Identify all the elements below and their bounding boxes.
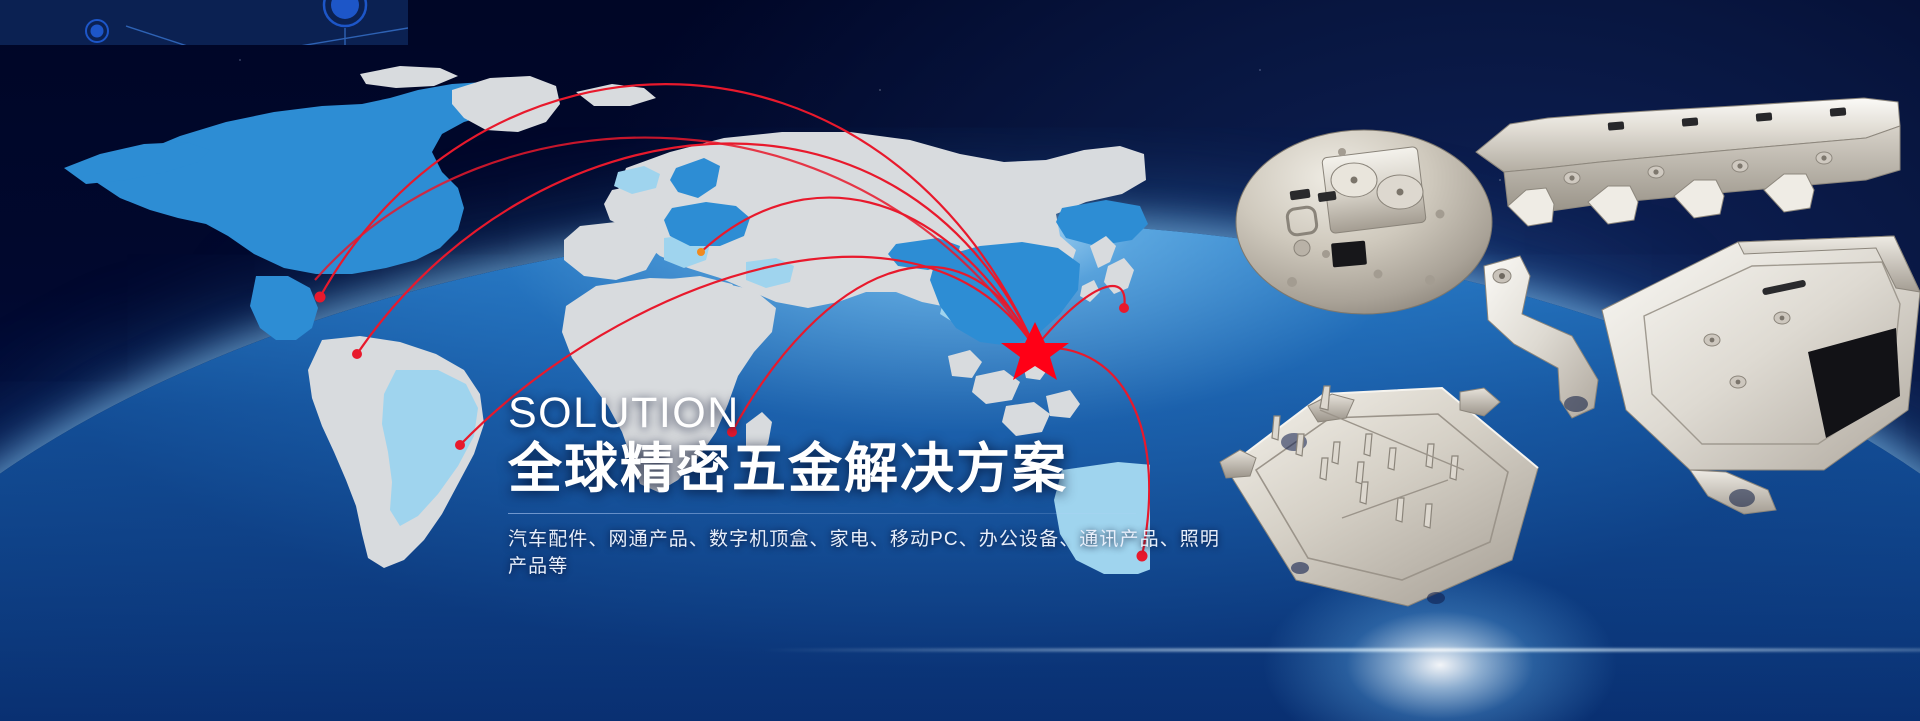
hud-node-small-core	[91, 25, 104, 38]
hero-headline: 全球精密五金解决方案	[508, 439, 1228, 499]
hero-divider	[508, 513, 1136, 514]
hero-copy: SOLUTION 全球精密五金解决方案 汽车配件、网通产品、数字机顶盒、家电、移…	[508, 392, 1228, 581]
part-round-baseplate	[1232, 118, 1496, 318]
endpoint-mexico	[352, 349, 362, 359]
hero-banner: SOLUTION 全球精密五金解决方案 汽车配件、网通产品、数字机顶盒、家电、移…	[0, 0, 1920, 721]
hud-line-1	[126, 26, 230, 45]
hud-line-3	[300, 28, 408, 45]
hud-node-large-core	[331, 0, 359, 19]
endpoint-north-america	[315, 292, 326, 303]
network-nodes-overlay	[0, 0, 408, 45]
hero-subcopy: 汽车配件、网通产品、数字机顶盒、家电、移动PC、办公设备、通讯产品、照明产品等	[508, 527, 1228, 580]
endpoint-europe	[697, 248, 705, 256]
hero-kicker: SOLUTION	[508, 392, 1228, 435]
endpoint-brazil	[455, 440, 465, 450]
part-angle-bracket-assembly	[1476, 232, 1920, 522]
region-north-america	[64, 82, 512, 340]
endpoint-japan	[1119, 303, 1129, 313]
